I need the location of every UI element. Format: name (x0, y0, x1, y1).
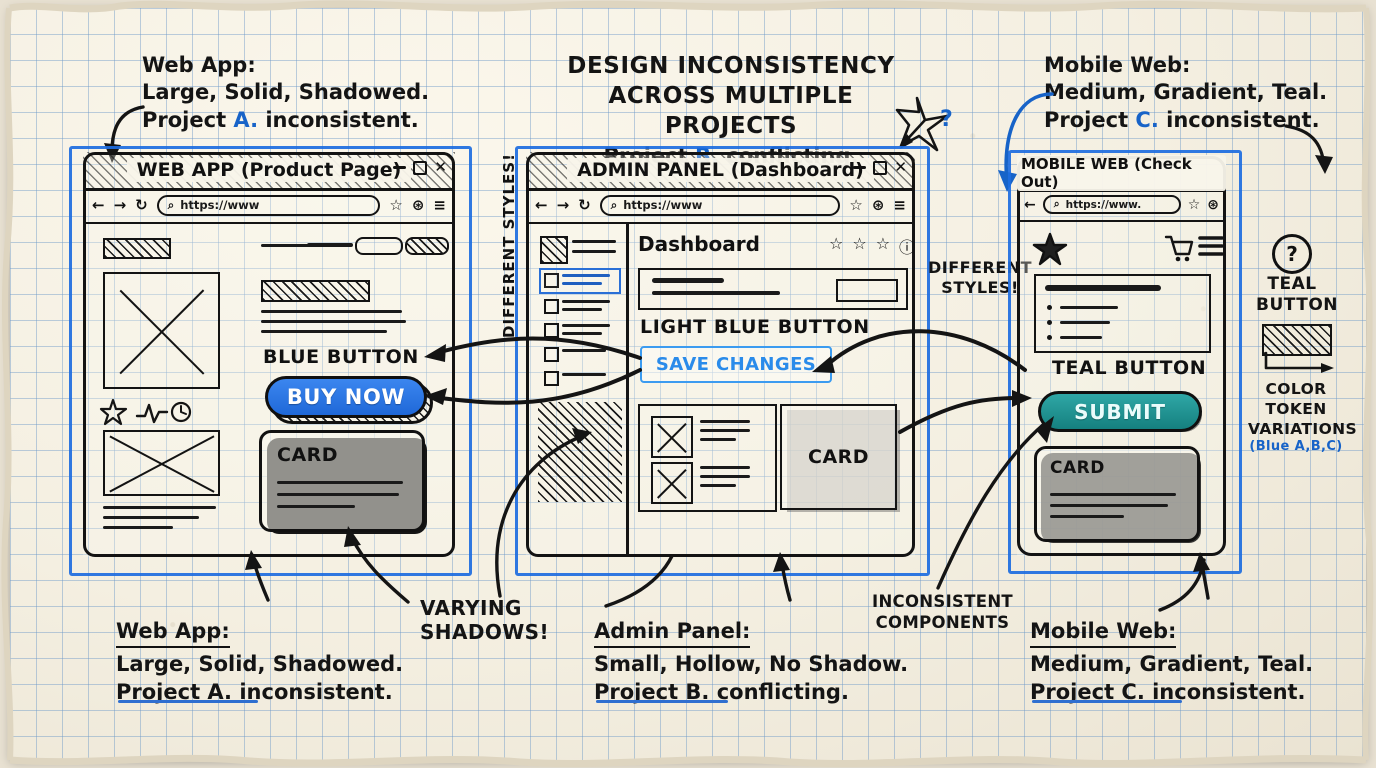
annotation-bottom-right-line2: Medium, Gradient, Teal. (1030, 651, 1313, 678)
bl-heading-text: Web App: (116, 618, 230, 648)
annotation-bottom-center-line2: Small, Hollow, No Shadow. (594, 651, 908, 678)
annotation-bottom-center-heading: Admin Panel: (594, 618, 908, 648)
label-inconsistent-components: INCONSISTENT COMPONENTS (872, 592, 1013, 634)
annotation-bottom-right: Mobile Web: Medium, Gradient, Teal. Proj… (1030, 618, 1313, 706)
bc-heading-text: Admin Panel: (594, 618, 750, 648)
sketch-canvas: Web App: Large, Solid, Shadowed. Project… (0, 0, 1376, 768)
blue-underline-center (596, 700, 728, 703)
annotation-bottom-center: Admin Panel: Small, Hollow, No Shadow. P… (594, 618, 908, 706)
label-varying-shadows: VARYING SHADOWS! (420, 596, 549, 645)
annotation-bottom-left-heading: Web App: (116, 618, 403, 648)
varying-shadows-line-1: VARYING (420, 596, 549, 620)
annotation-bottom-right-heading: Mobile Web: (1030, 618, 1313, 648)
inconsistent-line-2: COMPONENTS (872, 613, 1013, 634)
inconsistent-line-1: INCONSISTENT (872, 592, 1013, 613)
varying-shadows-line-2: SHADOWS! (420, 620, 549, 644)
br-heading-text: Mobile Web: (1030, 618, 1176, 648)
annotation-bottom-left-line2: Large, Solid, Shadowed. (116, 651, 403, 678)
blue-underline-right (1032, 700, 1182, 703)
blue-underline-left (118, 700, 258, 703)
annotation-bottom-left: Web App: Large, Solid, Shadowed. Project… (116, 618, 403, 706)
